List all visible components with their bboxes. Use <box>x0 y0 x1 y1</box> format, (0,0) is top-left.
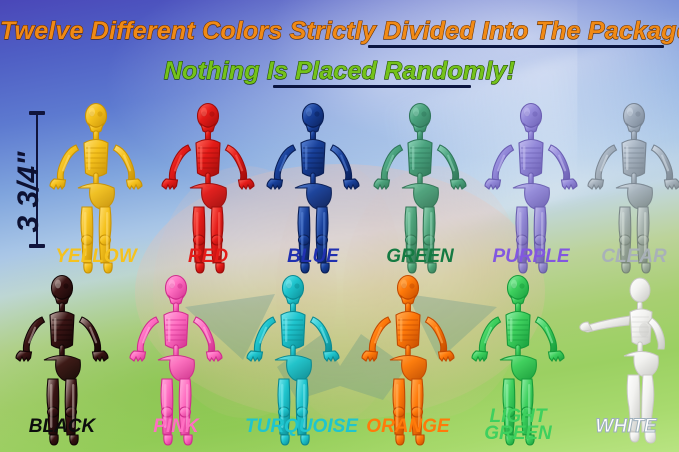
color-label-clear: CLEAR <box>586 248 679 265</box>
measurement-label: 3 3/4" <box>12 122 46 262</box>
color-label-orange: ORANGE <box>360 418 456 435</box>
color-label-white: WHITE <box>578 418 674 435</box>
product-image: Twelve Different Colors Strictly Divided… <box>0 0 679 452</box>
color-label-yellow: YELLOW <box>48 248 144 265</box>
headline-secondary: Nothing Is Placed Randomly! <box>0 57 679 86</box>
color-label-black: BLACK <box>14 418 110 435</box>
color-label-blue: BLUE <box>265 248 361 265</box>
headline-underline-1 <box>368 45 664 48</box>
color-label-purple: PURPLE <box>483 248 579 265</box>
color-label-light-green: LIGHT GREEN <box>470 408 566 442</box>
color-label-pink: PINK <box>128 418 224 435</box>
color-label-red: RED <box>160 248 256 265</box>
color-label-turquoise: TURQUOISE <box>245 418 341 435</box>
headline-underline-2 <box>273 85 471 88</box>
color-label-green: GREEN <box>372 248 468 265</box>
measurement-arrow-top <box>29 111 45 115</box>
headline-primary: Twelve Different Colors Strictly Divided… <box>0 17 679 46</box>
